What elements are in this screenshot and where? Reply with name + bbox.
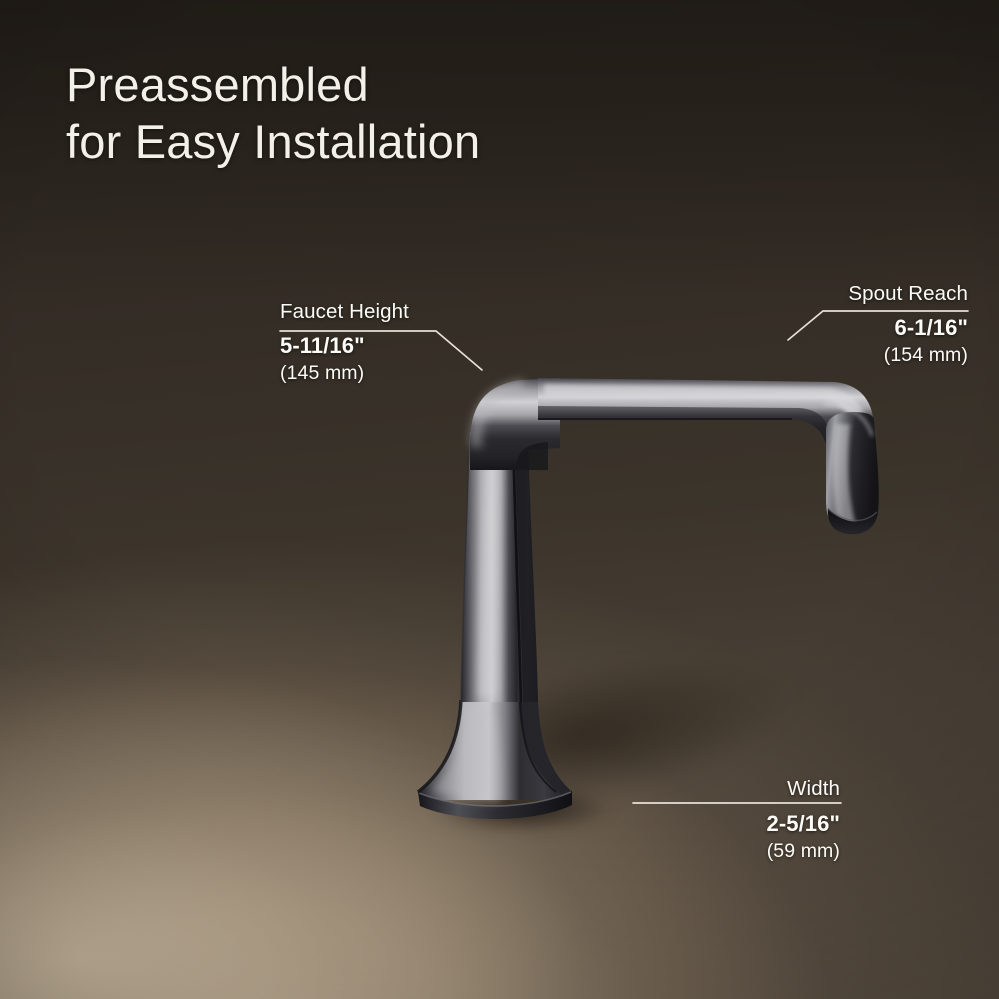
callout-width: Width 2-5/16" (59 mm)	[580, 777, 840, 863]
callout-reach-value: 6-1/16"	[700, 315, 968, 341]
callout-faucet-height: Faucet Height 5-11/16" (145 mm)	[280, 300, 409, 385]
callout-reach-caption: Spout Reach	[700, 282, 968, 306]
headline-line-2: for Easy Installation	[66, 113, 480, 170]
callout-reach-metric: (154 mm)	[700, 344, 968, 367]
callout-width-value: 2-5/16"	[580, 811, 840, 837]
callout-height-value: 5-11/16"	[280, 333, 409, 359]
faucet-base	[418, 700, 572, 819]
callout-height-metric: (145 mm)	[280, 362, 409, 385]
callout-width-caption: Width	[580, 777, 840, 801]
faucet-spout-arm	[538, 378, 874, 452]
product-image-canvas: Preassembled for Easy Installation Fauce…	[0, 0, 999, 999]
faucet-column	[461, 430, 538, 702]
callout-spout-reach: Spout Reach 6-1/16" (154 mm)	[700, 282, 968, 367]
headline-line-1: Preassembled	[66, 56, 480, 113]
headline: Preassembled for Easy Installation	[66, 56, 480, 171]
faucet-spout-tip	[824, 404, 879, 534]
callout-height-caption: Faucet Height	[280, 300, 409, 324]
callout-width-metric: (59 mm)	[580, 840, 840, 863]
